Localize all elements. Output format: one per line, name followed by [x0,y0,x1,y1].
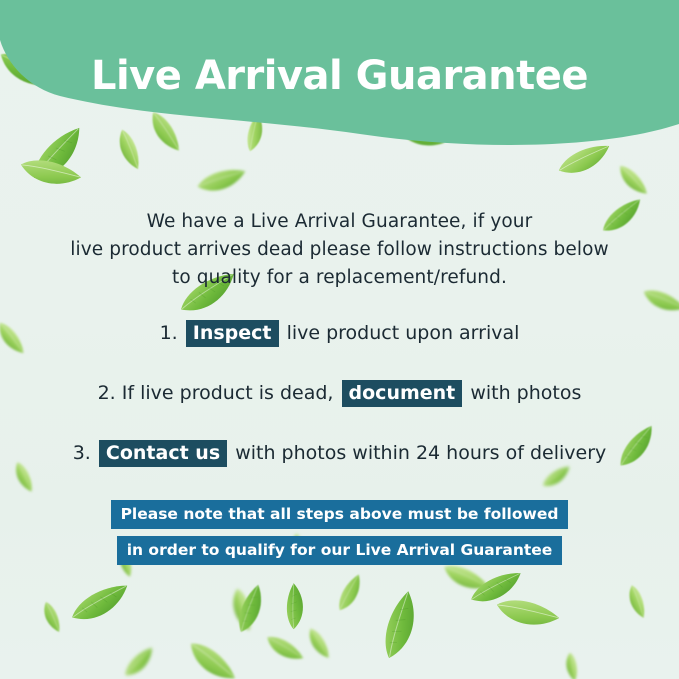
step-number: 1. [160,322,178,344]
footer-note-bar-2: in order to qualify for our Live Arrival… [117,536,563,565]
intro-paragraph: We have a Live Arrival Guarantee, if you… [50,208,629,292]
step-number: 2. [98,382,116,404]
step-number: 3. [73,442,91,464]
step-text: with photos within 24 hours of delivery [235,442,606,464]
poster-content: We have a Live Arrival Guarantee, if you… [0,0,679,679]
intro-line-3: to quality for a replacement/refund. [50,264,629,292]
step-highlight-document[interactable]: document [342,380,463,407]
footer-note-bar-1: Please note that all steps above must be… [111,500,569,529]
footer-note-row-1: Please note that all steps above must be… [0,500,679,529]
step-text: live product upon arrival [287,322,520,344]
step-item-1: 1. Inspect live product upon arrival [40,320,639,347]
step-highlight-contact-us[interactable]: Contact us [99,440,227,467]
step-item-3: 3. Contact us with photos within 24 hour… [40,440,639,467]
footer-note: Please note that all steps above must be… [0,500,679,565]
step-highlight-inspect[interactable]: Inspect [186,320,279,347]
footer-note-row-2: in order to qualify for our Live Arrival… [0,536,679,565]
step-item-2: 2. If live product is dead, document wit… [40,380,639,407]
steps-list: 1. Inspect live product upon arrival 2. … [40,320,639,500]
intro-line-1: We have a Live Arrival Guarantee, if you… [50,208,629,236]
step-text: with photos [470,382,581,404]
live-arrival-guarantee-poster: Live Arrival Guarantee We have a Live Ar… [0,0,679,679]
intro-line-2: live product arrives dead please follow … [50,236,629,264]
step-lead-text: If live product is dead, [122,382,334,404]
